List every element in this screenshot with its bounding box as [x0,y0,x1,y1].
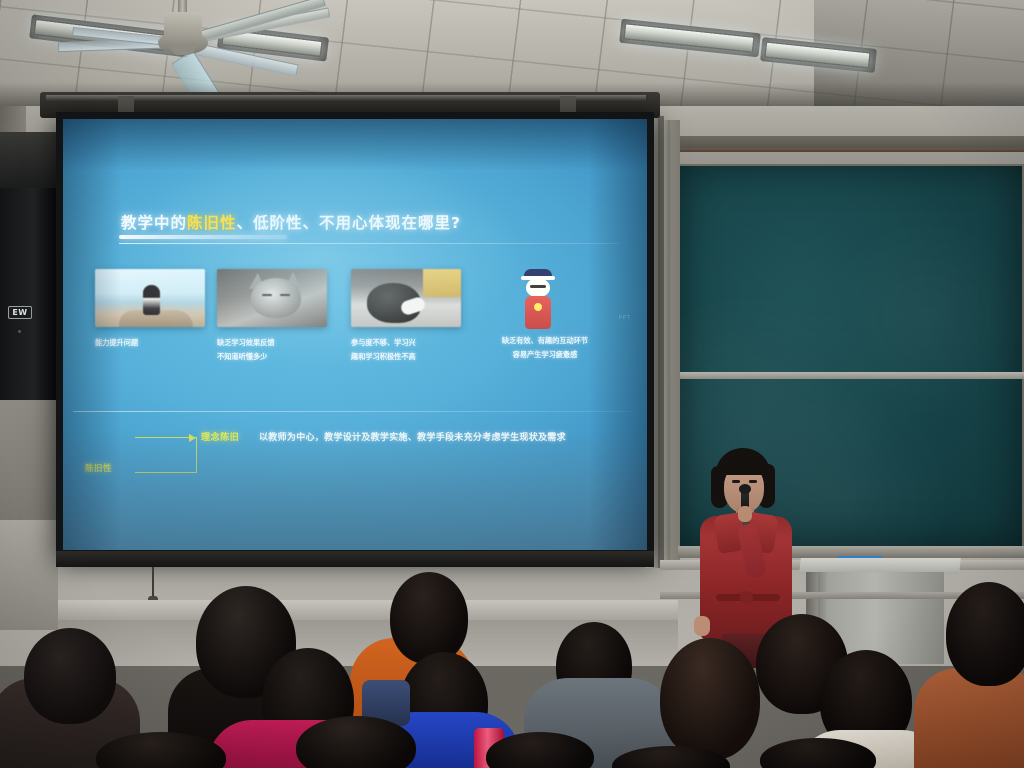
photo-sleeping-cat-icon [217,269,327,327]
classroom-scene: EW 教学中的陈旧性、低阶性、不用心体现在哪里? 能力提升问题 [0,0,1024,768]
title-prefix: 教学中的 [121,214,187,232]
slide-callout: 陈旧性 理念陈旧 以教师为中心，教学设计及教学实施、教学手段未充分考虑学生现状及… [63,419,647,499]
thumbnail-item: 能力提升问题 [95,269,223,349]
microphone-head-icon [739,484,751,494]
screen-surface: 教学中的陈旧性、低阶性、不用心体现在哪里? 能力提升问题 [63,119,647,550]
thumbnail-caption: 缺乏有效、有趣的互动环节 [483,335,607,347]
audience-head [390,572,468,664]
thumbnail-row: 能力提升问题 缺乏学习效果反馈 不知道听懂多少 [63,269,647,399]
thumbnail-caption: 能力提升问题 [95,337,219,349]
title-suffix: 、低阶性、不用心体现在哪里? [237,214,462,232]
audience-head [24,628,116,724]
audience [0,560,1024,768]
callout-body-text: 以教师为中心，教学设计及教学实施、教学手段未充分考虑学生现状及需求 [259,430,566,443]
wall-speaker-top [0,132,58,188]
thumbnail-item: 缺乏学习效果反馈 不知道听懂多少 [217,269,345,363]
callout-bracket-icon [135,437,197,473]
speaker-led-icon [18,330,21,333]
speaker-brand-label: EW [8,306,32,319]
thumbnail-caption-line2: 趣和学习积极性不高 [351,351,475,363]
photo-person-on-rock-icon [95,269,205,327]
slide-watermark: PPT [619,315,631,321]
left-wall-panel [0,400,58,520]
thumbnail-caption: 参与度不够、学习兴 [351,337,475,349]
callout-left-label: 陈旧性 [85,462,112,474]
photo-cat-yellow-patch-icon [351,269,461,327]
projection-screen: 教学中的陈旧性、低阶性、不用心体现在哪里? 能力提升问题 [56,112,654,557]
title-rule [119,243,619,244]
audience-member-rust [914,668,1024,768]
wall-conduit [668,148,1024,152]
callout-arrow-icon [189,434,196,442]
title-underline [119,235,287,239]
housing-highlight [46,95,646,101]
cartoon-character-icon [521,269,555,329]
slide-title: 教学中的陈旧性、低阶性、不用心体现在哪里? [121,211,461,233]
audience-head [946,582,1024,686]
title-highlight: 陈旧性 [187,214,237,232]
thumbnail-item: 缺乏有效、有趣的互动环节 容易产生学习疲惫感 [483,269,611,361]
slide-content: 教学中的陈旧性、低阶性、不用心体现在哪里? 能力提升问题 [63,119,647,550]
audience-head [660,638,760,760]
slide-divider [73,411,633,412]
chalkboard-divider [680,372,1024,379]
thumbnail-caption-line2: 容易产生学习疲惫感 [483,349,607,361]
callout-heading: 理念陈旧 [201,430,239,443]
thumbnail-caption-line2: 不知道听懂多少 [217,351,341,363]
thumbnail-item: 参与度不够、学习兴 趣和学习积极性不高 [351,269,479,363]
door-frame-edge [658,116,664,568]
thumbnail-caption: 缺乏学习效果反馈 [217,337,341,349]
